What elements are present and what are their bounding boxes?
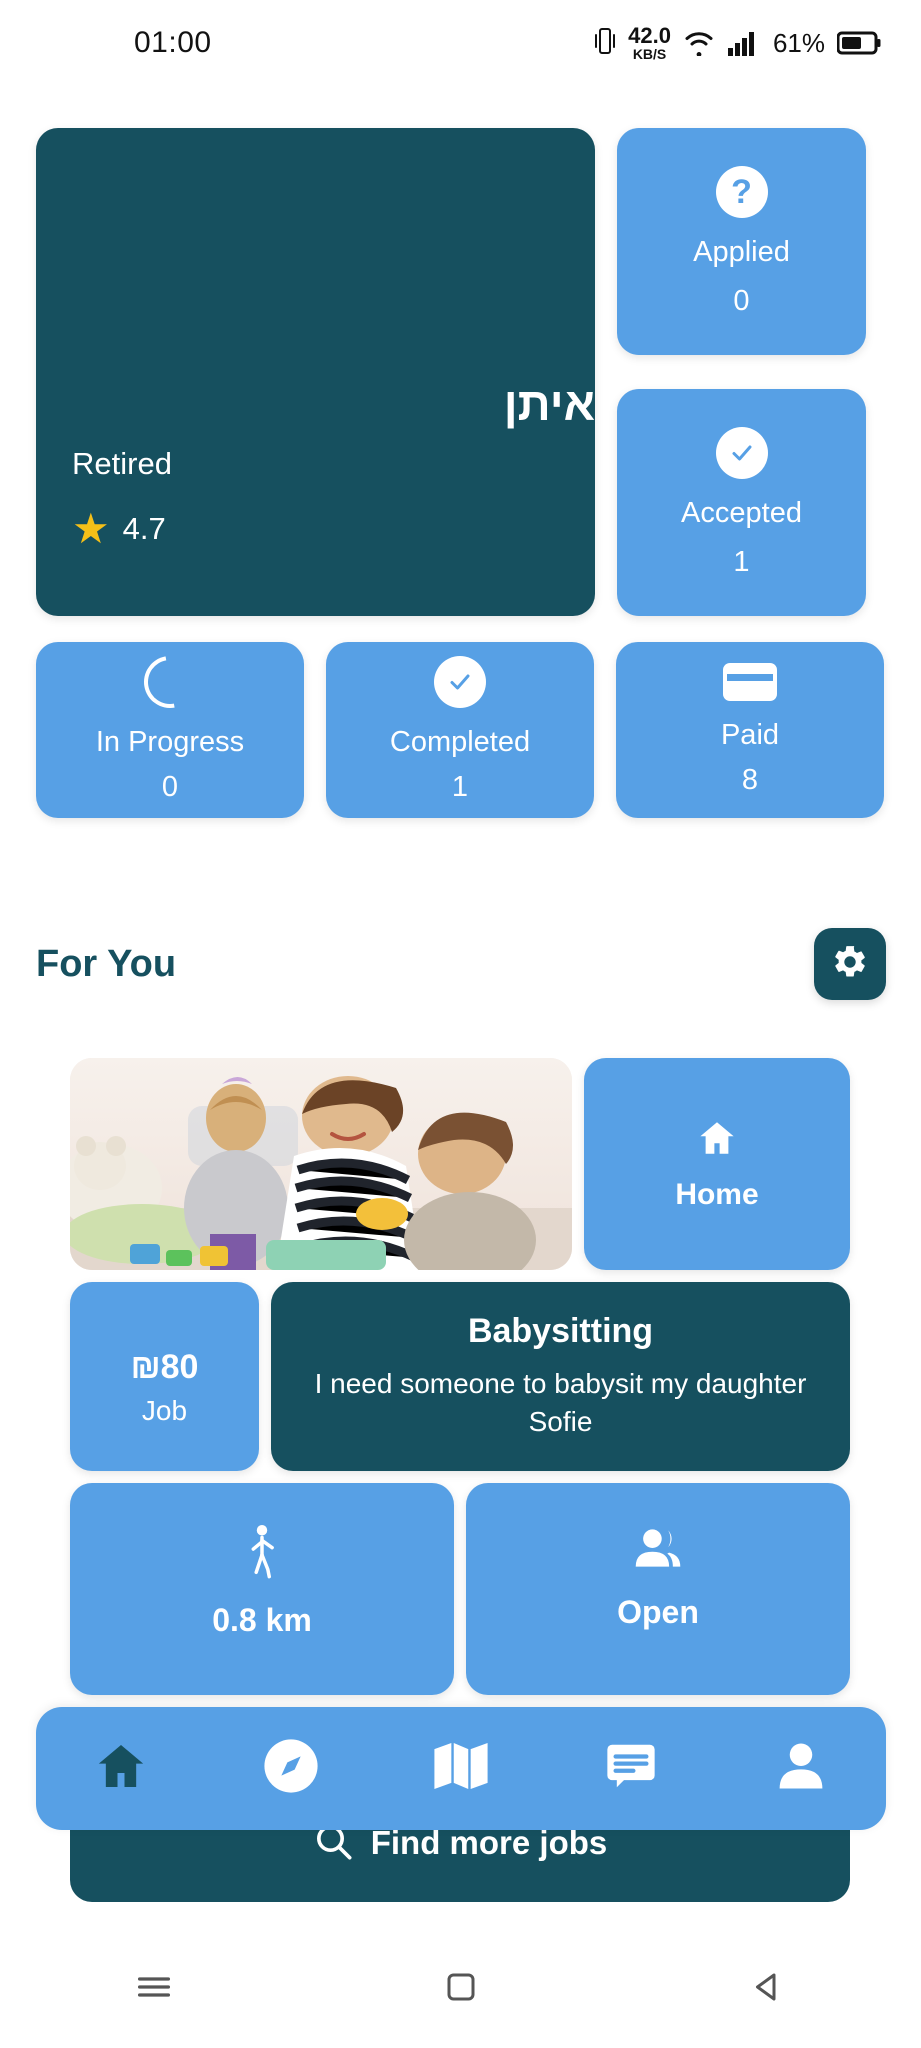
chat-icon [602,1740,660,1797]
star-icon: ★ [72,508,110,550]
wifi-icon [683,30,715,56]
stat-label-accepted: Accepted [681,497,802,530]
profile-role: Retired [72,446,595,482]
cellular-signal-icon [727,30,759,56]
map-icon [432,1739,490,1798]
job-card-middle-row: ₪80 Job Babysitting I need someone to ba… [70,1282,850,1471]
job-photo [70,1058,572,1270]
status-bar-icons: 42.0 KB/S 61% [594,25,881,61]
for-you-header: For You [36,928,886,1000]
android-recents-button[interactable] [94,1959,214,2019]
home-icon [695,1117,739,1164]
nav-item-explore[interactable] [246,1724,336,1814]
job-card[interactable]: Home ₪80 Job Babysitting I need someone … [70,1058,850,1695]
status-bar: 01:00 42.0 KB/S [0,0,921,86]
menu-lines-icon [134,1971,174,2008]
stat-card-in-progress[interactable]: In Progress 0 [36,642,304,818]
walking-person-icon [239,1523,285,1586]
status-cards-column: ? Applied 0 Accepted 1 [617,128,866,616]
job-card-top-row: Home [70,1058,850,1270]
job-distance-label: 0.8 km [212,1602,312,1639]
home-icon [92,1738,150,1799]
bottom-navigation-bar [36,1707,886,1830]
network-speed-value: 42.0 [628,25,671,47]
gear-icon [831,943,869,986]
job-price-sublabel: Job [142,1395,187,1427]
credit-card-icon [723,663,777,701]
page-title: For You [36,943,176,986]
job-distance-card[interactable]: 0.8 km [70,1483,454,1695]
stat-count-in-progress: 0 [162,771,178,804]
stat-card-accepted[interactable]: Accepted 1 [617,389,866,616]
vibrate-icon [594,26,616,60]
stat-label-applied: Applied [693,236,790,269]
job-description: I need someone to babysit my daughter So… [305,1365,816,1441]
back-triangle-icon [750,1969,786,2010]
person-icon [774,1738,828,1799]
status-bar-clock: 01:00 [134,26,212,60]
job-price-card[interactable]: ₪80 Job [70,1282,259,1471]
battery-percent-label: 61% [773,28,825,59]
dashboard-second-row: In Progress 0 Completed 1 Pa [36,642,886,818]
stat-label-paid: Paid [721,719,779,752]
android-system-navigation [0,1930,921,2048]
nav-item-profile[interactable] [756,1724,846,1814]
job-card-bottom-row: 0.8 km Open [70,1483,850,1695]
app-screen: 01:00 42.0 KB/S [0,0,921,2048]
network-speed-indicator: 42.0 KB/S [628,25,671,61]
check-circle-icon [716,427,768,479]
profile-rating: ★ 4.7 [72,508,595,550]
job-status-card[interactable]: Open [466,1483,850,1695]
question-mark-icon: ? [716,166,768,218]
job-status-label: Open [617,1594,699,1631]
dashboard-top-row: איתן Retired ★ 4.7 ? Applied 0 [36,128,886,616]
stat-label-completed: Completed [390,726,530,759]
stat-card-completed[interactable]: Completed 1 [326,642,594,818]
stat-count-paid: 8 [742,764,758,797]
stat-label-in-progress: In Progress [96,726,244,759]
job-description-card[interactable]: Babysitting I need someone to babysit my… [271,1282,850,1471]
profile-rating-value: 4.7 [123,511,166,547]
stat-count-applied: 0 [733,285,749,318]
network-speed-unit: KB/S [633,47,666,61]
profile-card[interactable]: איתן Retired ★ 4.7 [36,128,595,616]
nav-item-messages[interactable] [586,1724,676,1814]
android-home-button[interactable] [401,1959,521,2019]
job-title: Babysitting [468,1312,653,1351]
compass-icon [262,1737,320,1800]
job-location-card[interactable]: Home [584,1058,850,1270]
square-home-icon [443,1969,479,2010]
job-location-label: Home [675,1178,758,1212]
stat-count-completed: 1 [452,771,468,804]
nav-item-home[interactable] [76,1724,166,1814]
stat-card-applied[interactable]: ? Applied 0 [617,128,866,355]
dashboard-grid: איתן Retired ★ 4.7 ? Applied 0 [36,128,886,818]
profile-name: איתן [72,379,595,430]
people-icon [632,1523,684,1578]
settings-button[interactable] [814,928,886,1000]
stat-card-paid[interactable]: Paid 8 [616,642,884,818]
spinner-icon [144,656,196,708]
check-circle-icon [434,656,486,708]
android-back-button[interactable] [708,1959,828,2019]
battery-icon [837,30,881,56]
job-price-amount: ₪80 [131,1348,199,1387]
stat-count-accepted: 1 [733,546,749,579]
nav-item-map[interactable] [416,1724,506,1814]
